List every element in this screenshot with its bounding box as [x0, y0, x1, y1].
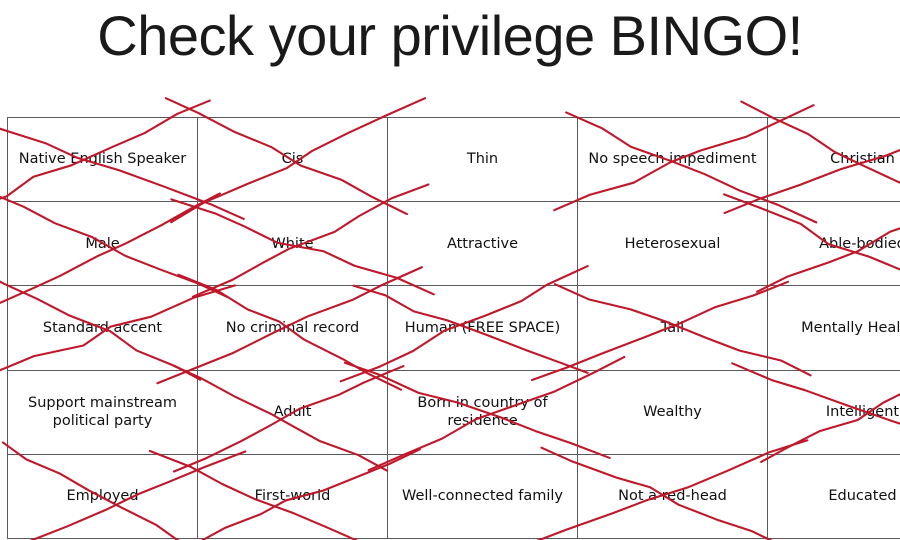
bingo-cell-label: Wealthy: [584, 403, 761, 422]
bingo-row: Support mainstream political partyAdultB…: [8, 370, 900, 454]
bingo-cell[interactable]: Attractive: [388, 202, 578, 286]
bingo-cell[interactable]: Able-bodied: [768, 202, 900, 286]
bingo-cell[interactable]: Mentally Healthy: [768, 286, 900, 370]
bingo-cell[interactable]: Male: [8, 202, 198, 286]
bingo-cell[interactable]: Adult: [198, 370, 388, 454]
bingo-cell-label: Heterosexual: [584, 235, 761, 254]
bingo-cell-label: No criminal record: [204, 319, 381, 338]
bingo-cell-label: Cis: [204, 150, 381, 169]
bingo-cell-label: Standard accent: [14, 319, 191, 338]
bingo-cell-label: Male: [14, 235, 191, 254]
bingo-cell-label: Employed: [14, 487, 191, 506]
bingo-cell[interactable]: Intelligent: [768, 370, 900, 454]
bingo-cell-label: Able-bodied: [774, 235, 900, 254]
bingo-cell-label: First-world: [204, 487, 381, 506]
bingo-cell[interactable]: White: [198, 202, 388, 286]
bingo-cell[interactable]: Tall: [578, 286, 768, 370]
bingo-cell[interactable]: Human (FREE SPACE): [388, 286, 578, 370]
bingo-cell[interactable]: Employed: [8, 454, 198, 538]
bingo-row: Native English SpeakerCisThinNo speech i…: [8, 118, 900, 202]
bingo-cell[interactable]: Cis: [198, 118, 388, 202]
bingo-cell-label: Human (FREE SPACE): [394, 319, 571, 338]
bingo-cell-label: Intelligent: [774, 403, 900, 422]
bingo-card: Native English SpeakerCisThinNo speech i…: [7, 117, 892, 513]
bingo-cell[interactable]: No criminal record: [198, 286, 388, 370]
bingo-cell-label: Adult: [204, 403, 381, 422]
bingo-cell[interactable]: Support mainstream political party: [8, 370, 198, 454]
bingo-row: Standard accentNo criminal recordHuman (…: [8, 286, 900, 370]
bingo-row: MaleWhiteAttractiveHeterosexualAble-bodi…: [8, 202, 900, 286]
bingo-cell[interactable]: Christian: [768, 118, 900, 202]
bingo-cell-label: Educated: [774, 487, 900, 506]
bingo-row: EmployedFirst-worldWell-connected family…: [8, 454, 900, 538]
bingo-cell-label: White: [204, 235, 381, 254]
bingo-cell[interactable]: Heterosexual: [578, 202, 768, 286]
bingo-cell[interactable]: Thin: [388, 118, 578, 202]
bingo-cell[interactable]: Not a red-head: [578, 454, 768, 538]
bingo-cell[interactable]: No speech impediment: [578, 118, 768, 202]
bingo-cell-label: Attractive: [394, 235, 571, 254]
bingo-cell[interactable]: Born in country of residence: [388, 370, 578, 454]
bingo-cell-label: No speech impediment: [584, 150, 761, 169]
bingo-cell-label: Thin: [394, 150, 571, 169]
bingo-cell-label: Christian: [774, 150, 900, 169]
bingo-cell-label: Native English Speaker: [14, 150, 191, 169]
bingo-cell-label: Born in country of residence: [394, 394, 571, 431]
bingo-cell[interactable]: First-world: [198, 454, 388, 538]
bingo-cell-label: Well-connected family: [394, 487, 571, 506]
bingo-cell[interactable]: Educated: [768, 454, 900, 538]
bingo-cell[interactable]: Wealthy: [578, 370, 768, 454]
bingo-cell[interactable]: Standard accent: [8, 286, 198, 370]
bingo-cell[interactable]: Native English Speaker: [8, 118, 198, 202]
bingo-grid: Native English SpeakerCisThinNo speech i…: [7, 117, 900, 539]
bingo-cell-label: Tall: [584, 319, 761, 338]
bingo-cell-label: Support mainstream political party: [14, 394, 191, 431]
bingo-cell-label: Mentally Healthy: [774, 319, 900, 338]
bingo-cell-label: Not a red-head: [584, 487, 761, 506]
page-title: Check your privilege BINGO!: [0, 8, 900, 64]
bingo-cell[interactable]: Well-connected family: [388, 454, 578, 538]
